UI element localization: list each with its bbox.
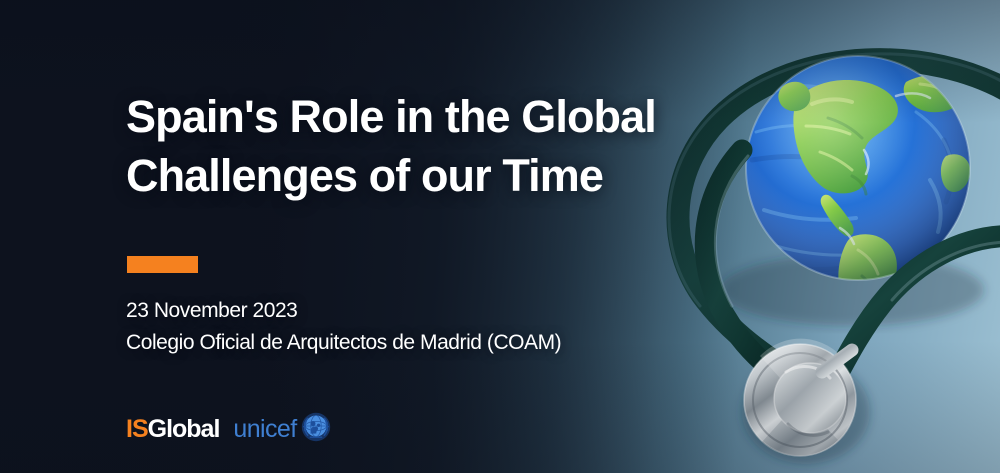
event-details: 23 November 2023 Colegio Oficial de Arqu… <box>126 295 561 358</box>
unicef-logo[interactable]: unicef <box>233 412 330 447</box>
title-line-2: Challenges of our Time <box>126 147 746 206</box>
unicef-logo-wordmark: unicef <box>233 417 296 442</box>
event-date: 23 November 2023 <box>126 295 561 327</box>
orange-accent-bar <box>127 256 198 273</box>
isglobal-logo[interactable]: ISGlobal <box>126 417 219 442</box>
event-venue: Colegio Oficial de Arquitectos de Madrid… <box>126 327 561 359</box>
title-line-1: Spain's Role in the Global <box>126 88 746 147</box>
isglobal-logo-suffix: Global <box>148 415 220 443</box>
isglobal-logo-prefix: IS <box>126 415 148 443</box>
logo-strip: ISGlobal unicef <box>126 412 331 447</box>
unicef-emblem-icon <box>301 412 331 447</box>
event-banner: Spain's Role in the Global Challenges of… <box>0 0 1000 473</box>
page-title: Spain's Role in the Global Challenges of… <box>126 88 746 205</box>
banner-content: Spain's Role in the Global Challenges of… <box>126 0 766 473</box>
